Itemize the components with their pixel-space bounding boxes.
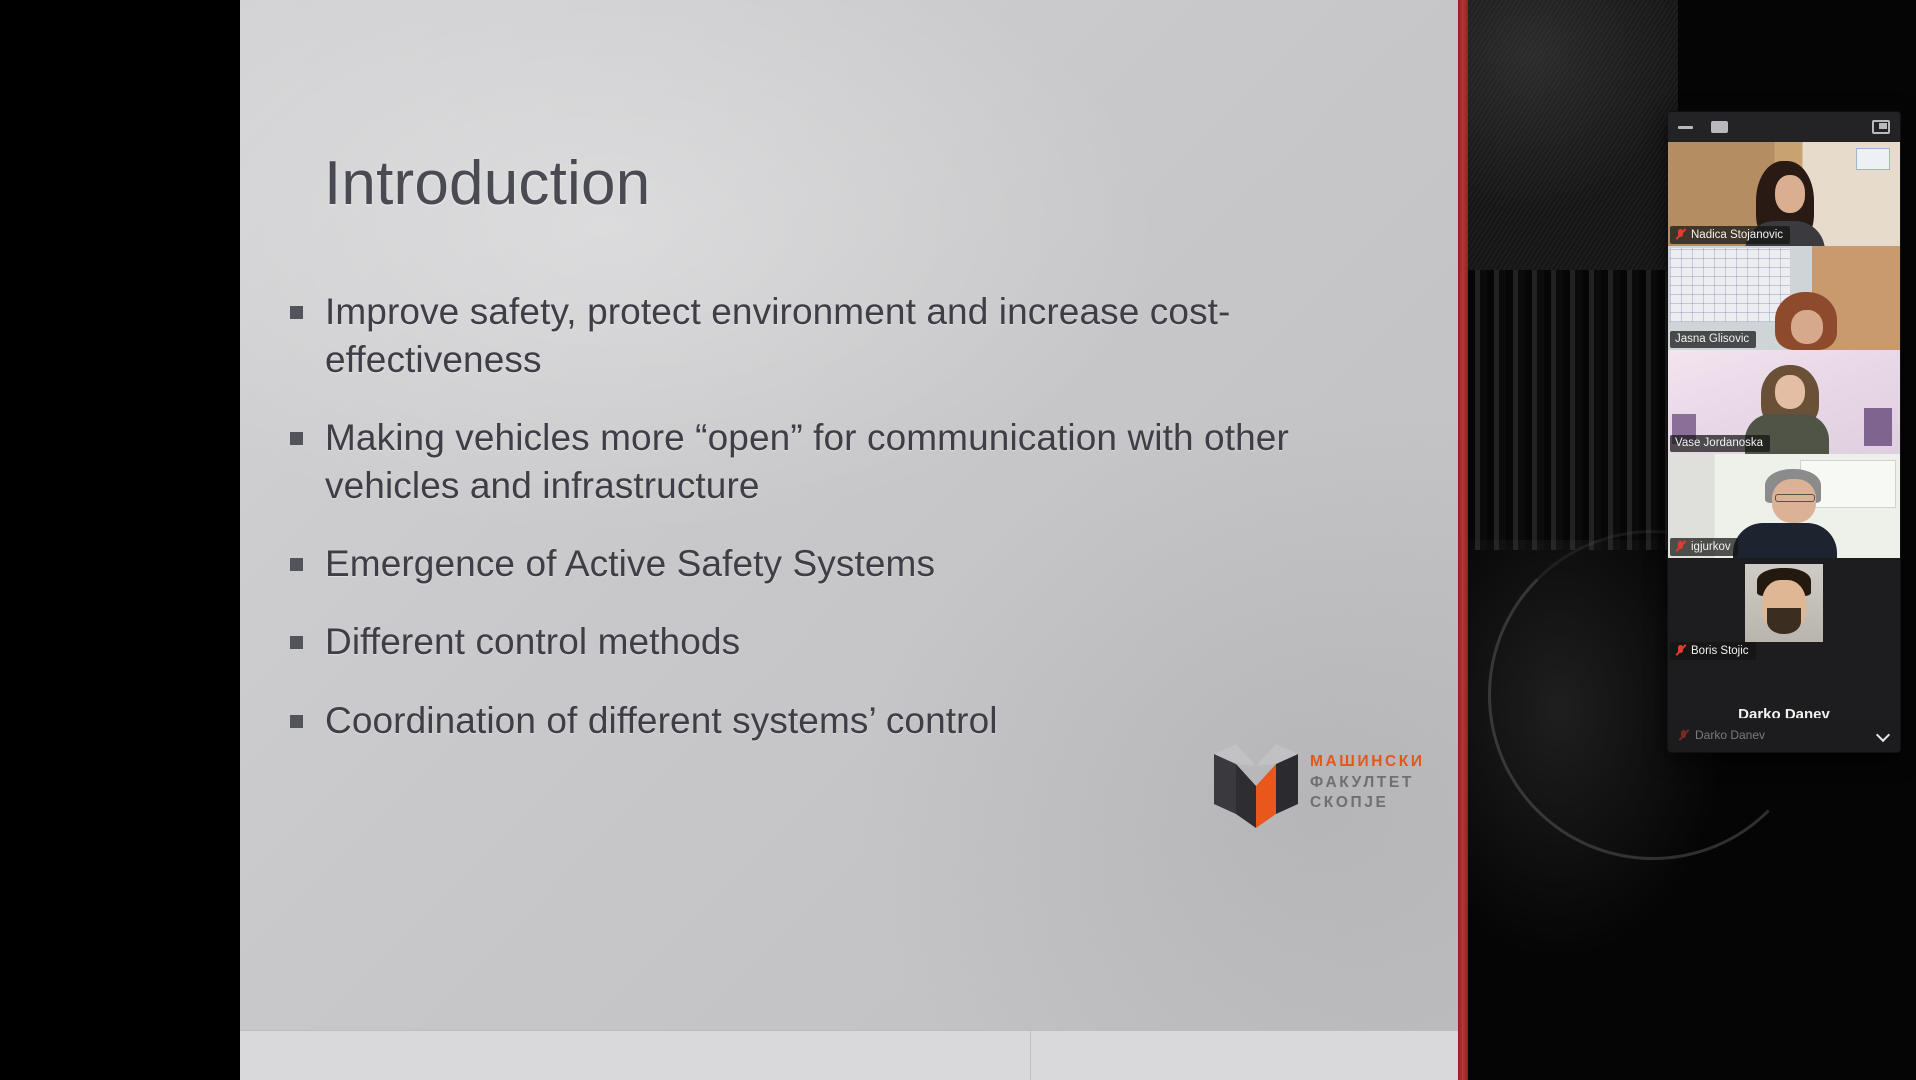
faculty-logo-text: МАШИНСКИ ФАКУЛТЕТ СКОПЈЕ (1310, 752, 1425, 814)
logo-line-3: СКОПЈЕ (1310, 793, 1425, 814)
list-item: Emergence of Active Safety Systems (290, 540, 1390, 588)
participant-filmstrip[interactable]: Nadica Stojanovic Jasna Glisovic Vase Jo… (1668, 112, 1900, 752)
mic-muted-icon (1675, 644, 1686, 657)
footer-participant-name: Darko Danev (1695, 728, 1870, 742)
presentation-slide: Introduction Improve safety, protect env… (240, 0, 1458, 1030)
bullet-text: Improve safety, protect environment and … (325, 288, 1335, 384)
mic-muted-icon (1675, 540, 1686, 553)
participant-name-badge: Nadica Stojanovic (1670, 226, 1790, 244)
split-view-icon[interactable] (1746, 121, 1763, 134)
backdrop-texture-ribs (1468, 270, 1678, 550)
slide-title: Introduction (324, 148, 650, 219)
next-slide-strip (240, 1030, 1458, 1080)
single-view-icon[interactable] (1711, 121, 1728, 133)
list-item: Improve safety, protect environment and … (290, 288, 1390, 384)
filmstrip-toolbar[interactable] (1668, 112, 1900, 142)
slide-accent-edge (1458, 0, 1468, 1080)
next-slide-divider (1030, 1031, 1031, 1080)
grid-view-icon[interactable] (1781, 120, 1798, 135)
logo-line-2: ФАКУЛТЕТ (1310, 773, 1425, 794)
minimize-icon[interactable] (1678, 126, 1693, 129)
mic-muted-icon (1678, 729, 1689, 742)
picture-in-picture-icon[interactable] (1872, 120, 1890, 134)
logo-line-1: МАШИНСКИ (1310, 752, 1425, 773)
bullet-text: Coordination of different systems’ contr… (325, 697, 998, 745)
backdrop-texture-upper (1468, 0, 1678, 270)
participant-tile-nadica-stojanovic[interactable]: Nadica Stojanovic (1668, 142, 1900, 246)
list-item: Coordination of different systems’ contr… (290, 697, 1390, 745)
list-item: Making vehicles more “open” for communic… (290, 414, 1390, 510)
chevron-down-icon[interactable] (1876, 728, 1890, 742)
participant-tile-igjurkov[interactable]: igjurkov (1668, 454, 1900, 558)
participant-name: Vase Jordanoska (1675, 437, 1763, 449)
mic-muted-icon (1675, 228, 1686, 241)
faculty-logo-mark-icon (1210, 742, 1302, 828)
participant-name: Jasna Glisovic (1675, 333, 1749, 345)
participant-tile-vase-jordanoska[interactable]: Vase Jordanoska (1668, 350, 1900, 454)
avatar (1745, 564, 1823, 642)
list-item: Different control methods (290, 618, 1390, 666)
shared-screen-stage[interactable]: Introduction Improve safety, protect env… (240, 0, 1468, 1080)
bullet-text: Different control methods (325, 618, 740, 666)
bullet-text: Emergence of Active Safety Systems (325, 540, 935, 588)
participant-name-badge: Boris Stojic (1670, 642, 1756, 660)
participant-name-badge: Jasna Glisovic (1670, 331, 1756, 348)
participant-name-badge: igjurkov (1670, 538, 1738, 556)
participant-tile-jasna-glisovic[interactable]: Jasna Glisovic (1668, 246, 1900, 350)
participant-name: Nadica Stojanovic (1691, 229, 1783, 241)
letterbox-left (0, 0, 240, 1080)
bullet-square-icon (290, 636, 303, 649)
bullet-text: Making vehicles more “open” for communic… (325, 414, 1335, 510)
participant-name: igjurkov (1691, 541, 1731, 553)
participant-tile-boris-stojic[interactable]: Boris Stojic (1668, 558, 1900, 662)
bullet-square-icon (290, 715, 303, 728)
bullet-square-icon (290, 558, 303, 571)
meeting-screen-share-view: Introduction Improve safety, protect env… (0, 0, 1916, 1080)
participant-name-badge: Vase Jordanoska (1670, 435, 1770, 452)
participant-name: Boris Stojic (1691, 645, 1749, 657)
slide-bullet-list: Improve safety, protect environment and … (290, 288, 1390, 775)
faculty-logo: МАШИНСКИ ФАКУЛТЕТ СКОПЈЕ (1210, 742, 1420, 832)
filmstrip-footer[interactable]: Darko Danev (1668, 718, 1900, 752)
bullet-square-icon (290, 432, 303, 445)
bullet-square-icon (290, 306, 303, 319)
